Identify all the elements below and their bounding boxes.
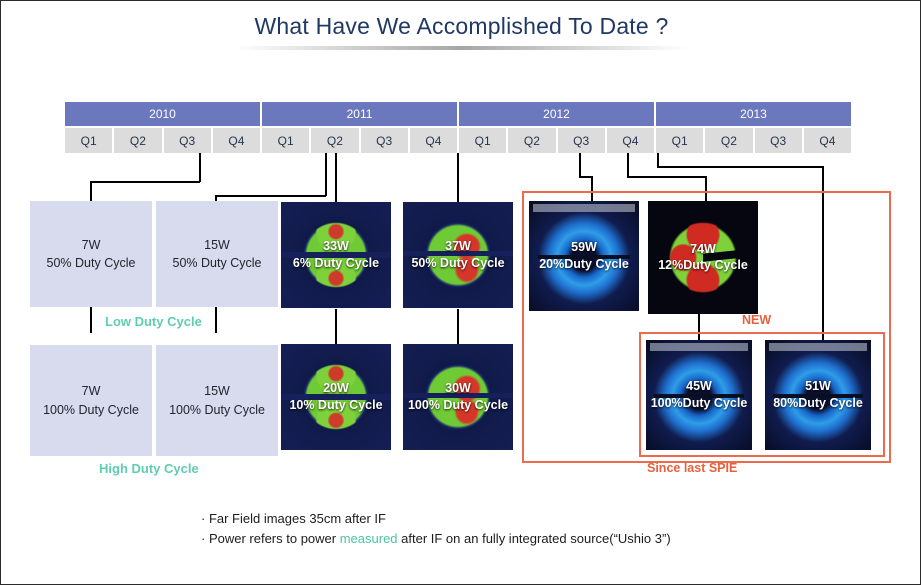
farfield-caption: 51W 80%Duty Cycle	[765, 378, 871, 412]
milestone-duty: 100% Duty Cycle	[43, 401, 139, 419]
farfield-caption: 74W 12%Duty Cycle	[648, 241, 758, 275]
milestone-power: 15W	[204, 236, 230, 254]
slide-canvas: What Have We Accomplished To Date ? 2010…	[0, 0, 921, 585]
connector-74w-drop	[627, 153, 629, 177]
farfield-caption: 37W 50% Duty Cycle	[403, 238, 513, 272]
milestone-power: 33W	[283, 238, 389, 255]
milestone-power: 37W	[405, 238, 511, 255]
milestone-duty: 50% Duty Cycle	[47, 254, 136, 272]
low-duty-tick-right	[215, 307, 217, 333]
milestone-duty: 100% Duty Cycle	[169, 401, 265, 419]
timeline-quarter-2010-q2: Q2	[114, 128, 163, 153]
farfield-caption: 59W 20%Duty Cycle	[529, 239, 639, 273]
milestone-duty: 80%Duty Cycle	[767, 395, 869, 412]
timeline-quarter-2013-q1: Q1	[656, 128, 705, 153]
timeline-year-2011: 2011	[262, 102, 459, 126]
since-last-spie-label: Since last SPIE	[647, 461, 737, 475]
timeline-year-2010: 2010	[65, 102, 262, 126]
milestone-duty: 6% Duty Cycle	[283, 255, 389, 272]
farfield-tile-74w: 74W 12%Duty Cycle	[648, 201, 758, 314]
low-duty-tick-left	[90, 307, 92, 333]
farfield-tile-51w: 51W 80%Duty Cycle	[765, 340, 871, 450]
footnote-bullet-2: · Power refers to power measured after I…	[201, 529, 671, 549]
connector-37w-top	[457, 153, 459, 202]
milestone-duty: 100%Duty Cycle	[648, 395, 750, 412]
farfield-caption: 33W 6% Duty Cycle	[281, 238, 391, 272]
milestone-box-7w-50: 7W 50% Duty Cycle	[30, 201, 152, 307]
timeline-quarter-2013-q3: Q3	[755, 128, 804, 153]
timeline-year-row: 2010 2011 2012 2013	[65, 102, 851, 126]
connector-2010-vertical	[90, 181, 92, 203]
milestone-power: 45W	[648, 378, 750, 395]
milestone-power: 30W	[405, 380, 511, 397]
timeline-quarter-2010-q4: Q4	[213, 128, 262, 153]
milestone-power: 20W	[283, 380, 389, 397]
timeline-header: 2010 2011 2012 2013 Q1 Q2 Q3 Q4 Q1 Q2 Q3…	[65, 102, 851, 153]
milestone-power: 15W	[204, 382, 230, 400]
farfield-caption: 45W 100%Duty Cycle	[646, 378, 752, 412]
milestone-power: 74W	[650, 241, 756, 258]
footnote-bullet-2-pre: · Power refers to power	[201, 531, 340, 546]
timeline-quarter-2012-q2: Q2	[508, 128, 557, 153]
milestone-box-7w-100: 7W 100% Duty Cycle	[30, 345, 152, 456]
connector-2010-horizontal	[90, 181, 200, 183]
milestone-duty: 100% Duty Cycle	[405, 397, 511, 414]
farfield-tile-59w: 59W 20%Duty Cycle	[529, 201, 639, 311]
timeline-quarter-2013-q2: Q2	[705, 128, 754, 153]
milestone-power: 7W	[82, 236, 101, 254]
connector-30w-top	[457, 309, 459, 344]
milestone-duty: 12%Duty Cycle	[650, 258, 756, 275]
connector-74w-horizontal	[627, 176, 706, 178]
timeline-quarter-2010-q1: Q1	[65, 128, 114, 153]
timeline-quarter-2011-q4: Q4	[410, 128, 459, 153]
timeline-quarter-2012-q3: Q3	[558, 128, 607, 153]
milestone-duty: 50% Duty Cycle	[405, 255, 511, 272]
farfield-tile-20w: 20W 10% Duty Cycle	[281, 344, 391, 450]
high-duty-cycle-label: High Duty Cycle	[99, 461, 199, 476]
footnotes: · Far Field images 35cm after IF · Power…	[201, 509, 671, 549]
timeline-quarter-2011-q1: Q1	[262, 128, 311, 153]
milestone-power: 59W	[531, 239, 637, 256]
footnote-bullet-2-post: after IF on an fully integrated source(“…	[398, 531, 671, 546]
timeline-quarter-2011-q2: Q2	[311, 128, 360, 153]
connector-51w-horizontal	[657, 166, 824, 168]
title-divider	[234, 46, 689, 50]
connector-2011q1-drop	[325, 153, 327, 196]
milestone-duty: 50% Duty Cycle	[173, 254, 262, 272]
farfield-tile-30w: 30W 100% Duty Cycle	[403, 344, 513, 450]
timeline-year-2013: 2013	[656, 102, 851, 126]
milestone-power: 7W	[82, 382, 101, 400]
timeline-quarter-2012-q1: Q1	[459, 128, 508, 153]
new-label: NEW	[742, 313, 771, 327]
timeline-quarter-2010-q3: Q3	[164, 128, 213, 153]
farfield-tile-45w: 45W 100%Duty Cycle	[646, 340, 752, 450]
milestone-duty: 10% Duty Cycle	[283, 397, 389, 414]
farfield-tile-37w: 37W 50% Duty Cycle	[403, 202, 513, 308]
milestone-box-15w-100: 15W 100% Duty Cycle	[156, 345, 278, 456]
farfield-tile-33w: 33W 6% Duty Cycle	[281, 202, 391, 308]
connector-2011q1-horizontal	[215, 195, 326, 197]
milestone-box-15w-50: 15W 50% Duty Cycle	[156, 201, 278, 307]
connector-20w-top	[335, 309, 337, 344]
timeline-quarter-row: Q1 Q2 Q3 Q4 Q1 Q2 Q3 Q4 Q1 Q2 Q3 Q4 Q1 Q…	[65, 128, 851, 153]
footnote-bullet-1: · Far Field images 35cm after IF	[201, 509, 671, 529]
connector-51w-drop	[657, 153, 659, 167]
page-title: What Have We Accomplished To Date ?	[1, 13, 921, 40]
milestone-duty: 20%Duty Cycle	[531, 256, 637, 273]
farfield-caption: 20W 10% Duty Cycle	[281, 380, 391, 414]
connector-2010-drop	[199, 153, 201, 182]
milestone-power: 51W	[767, 378, 869, 395]
timeline-quarter-2012-q4: Q4	[607, 128, 656, 153]
connector-33w-top	[335, 153, 337, 202]
farfield-caption: 30W 100% Duty Cycle	[403, 380, 513, 414]
timeline-year-2012: 2012	[459, 102, 656, 126]
connector-59w-drop	[579, 153, 581, 177]
timeline-quarter-2013-q4: Q4	[804, 128, 851, 153]
low-duty-cycle-label: Low Duty Cycle	[105, 314, 202, 329]
footnote-highlight-measured: measured	[340, 531, 398, 546]
timeline-quarter-2011-q3: Q3	[361, 128, 410, 153]
